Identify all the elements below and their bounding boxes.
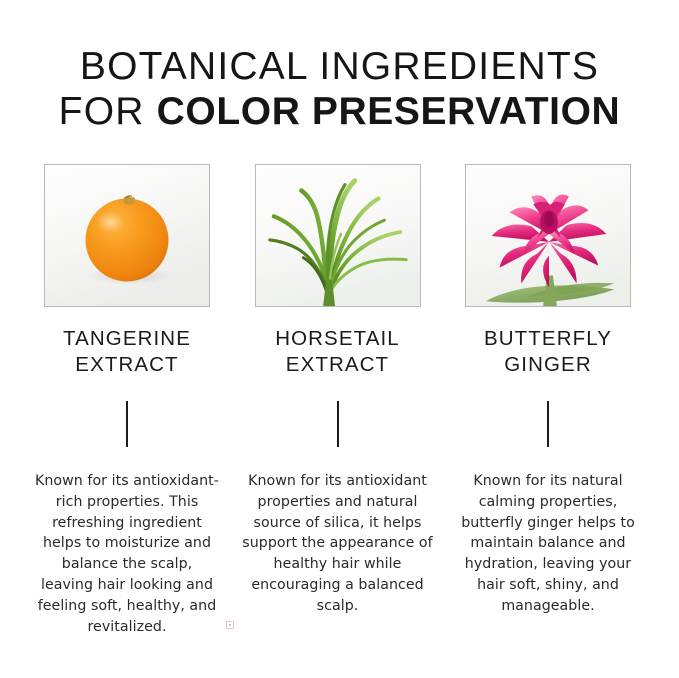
ingredient-name-tangerine: TANGERINE EXTRACT [63, 326, 191, 378]
ingredient-column-tangerine: TANGERINE EXTRACT Known for its antioxid… [44, 164, 210, 637]
title-line-2-bold: COLOR PRESERVATION [157, 90, 621, 133]
ingredient-description-butterfly-ginger: Known for its natural calming properties… [451, 471, 646, 617]
title-line-1: BOTANICAL INGREDIENTS [0, 44, 679, 89]
divider-rule-horsetail [337, 401, 339, 447]
horsetail-photo [255, 164, 421, 307]
title-line-2-light: FOR [59, 90, 157, 133]
ingredient-name-horsetail: HORSETAIL EXTRACT [275, 326, 400, 378]
butterfly-ginger-photo [465, 164, 631, 307]
tangerine-photo [44, 164, 210, 307]
divider-rule-tangerine [126, 401, 128, 447]
page-title: BOTANICAL INGREDIENTS FOR COLOR PRESERVA… [0, 44, 679, 134]
ingredient-columns: TANGERINE EXTRACT Known for its antioxid… [44, 164, 631, 637]
ingredient-description-tangerine: Known for its antioxidant-rich propertie… [35, 471, 220, 637]
title-line-2: FOR COLOR PRESERVATION [0, 89, 679, 134]
watermark-mark [226, 621, 234, 629]
ingredient-column-horsetail: HORSETAIL EXTRACT Known for its antioxid… [255, 164, 421, 617]
ingredient-column-butterfly-ginger: BUTTERFLY GINGER Known for its natural c… [465, 164, 631, 617]
ingredient-name-butterfly-ginger: BUTTERFLY GINGER [484, 326, 612, 378]
divider-rule-butterfly-ginger [547, 401, 549, 447]
ingredient-description-horsetail: Known for its antioxidant properties and… [239, 471, 437, 617]
infographic-page: BOTANICAL INGREDIENTS FOR COLOR PRESERVA… [0, 0, 679, 678]
